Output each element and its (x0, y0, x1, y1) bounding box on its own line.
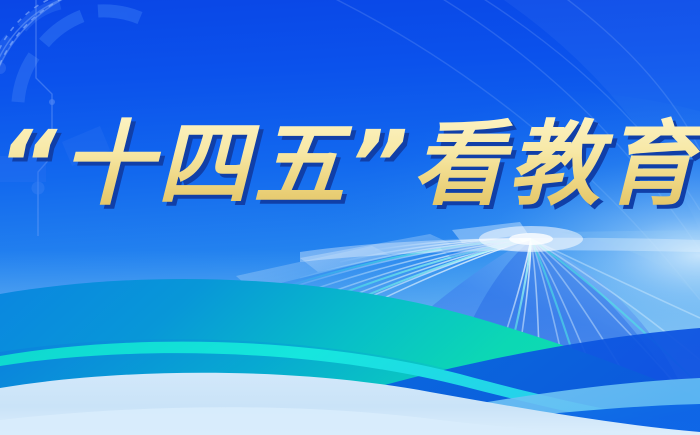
banner-root: “十四五”看教育 “十四五”看教育 (0, 0, 700, 435)
bottom-waves-layer (0, 0, 700, 435)
